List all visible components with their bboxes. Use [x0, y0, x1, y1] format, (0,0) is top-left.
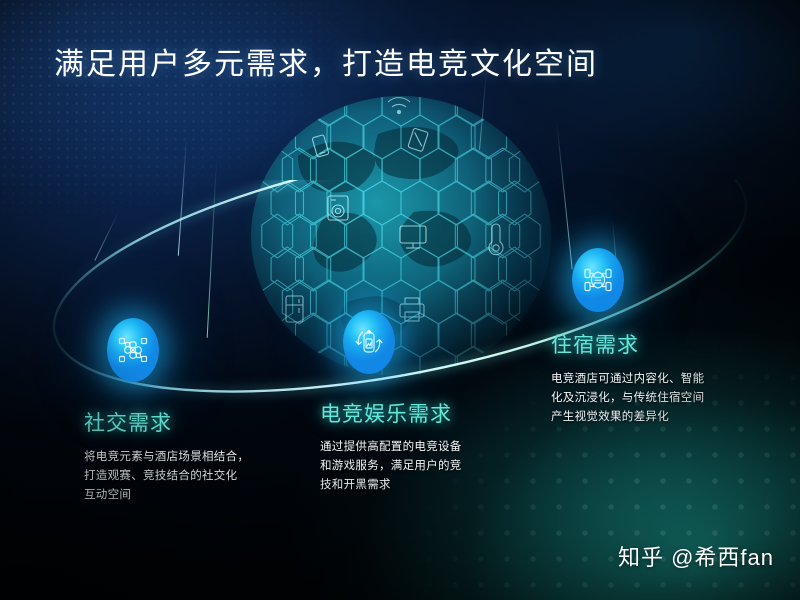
watermark: 知乎 @希西fan [618, 540, 774, 572]
smart-chip-icon [581, 263, 615, 297]
node-social-body-line: 互动空间 [84, 486, 249, 505]
node-esports-body-line: 技和开黑需求 [320, 476, 462, 495]
device-refresh-icon [352, 325, 386, 359]
node-accommodation-body: 电竞酒店可通过内容化、智能 化及沉浸化，与传统住宿空间 产生视觉效果的差异化 [551, 370, 704, 427]
node-social-bubble[interactable] [107, 318, 159, 382]
node-accommodation-body-line: 化及沉浸化，与传统住宿空间 [551, 389, 704, 408]
node-esports-body-line: 和游戏服务，满足用户的竞 [320, 457, 462, 476]
node-esports-body: 通过提供高配置的电竞设备 和游戏服务，满足用户的竞 技和开黑需求 [320, 438, 462, 495]
node-accommodation-body-line: 电竞酒店可通过内容化、智能 [551, 370, 704, 389]
network-nodes-icon [116, 333, 150, 367]
node-accommodation-body-line: 产生视觉效果的差异化 [551, 408, 704, 427]
node-esports-body-line: 通过提供高配置的电竞设备 [320, 438, 462, 457]
node-esports-title: 电竞娱乐需求 [320, 398, 452, 428]
node-esports-bubble[interactable] [343, 310, 395, 374]
slide-canvas: 社交需求 将电竞元素与酒店场景相结合， 打造观赛、竞技结合的社交化 互动空间 [0, 0, 800, 600]
node-social-title: 社交需求 [84, 407, 172, 437]
page-title: 满足用户多元需求，打造电竞文化空间 [54, 44, 598, 86]
node-accommodation-bubble[interactable] [572, 248, 624, 312]
node-accommodation-title: 住宿需求 [551, 329, 639, 359]
node-social-body: 将电竞元素与酒店场景相结合， 打造观赛、竞技结合的社交化 互动空间 [84, 448, 249, 505]
node-social-body-line: 打造观赛、竞技结合的社交化 [84, 467, 249, 486]
node-social-body-line: 将电竞元素与酒店场景相结合， [84, 448, 249, 467]
